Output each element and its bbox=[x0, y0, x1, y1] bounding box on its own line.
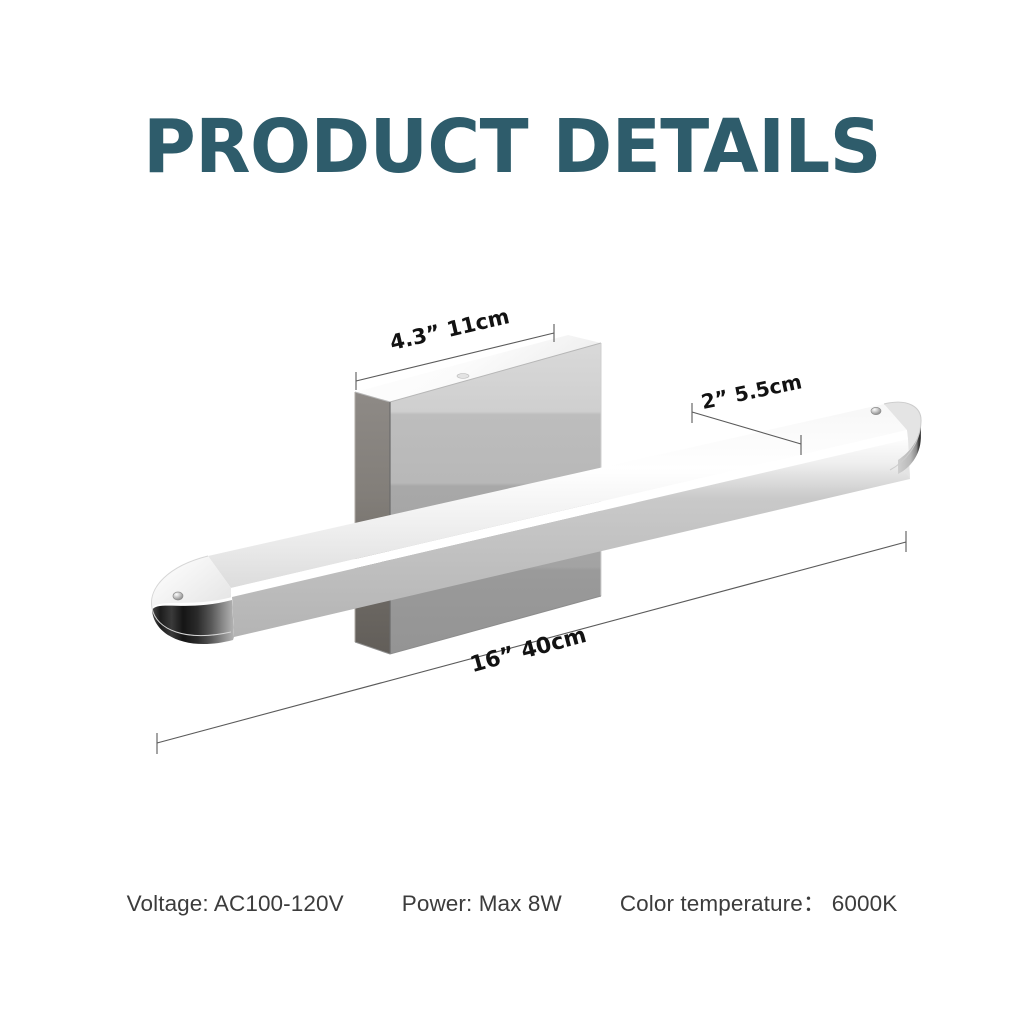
spec-power: Power: Max 8W bbox=[402, 891, 562, 917]
end-cap-screw-left-icon bbox=[173, 592, 183, 600]
spec-color-temperature: Color temperature： 6000K bbox=[620, 886, 898, 918]
product-illustration bbox=[0, 0, 1024, 1024]
mounting-block-screw-icon bbox=[457, 374, 469, 379]
end-cap-screw-right-icon bbox=[871, 407, 881, 414]
product-details-page: PRODUCT DETAILS bbox=[0, 0, 1024, 1024]
spec-voltage: Voltage: AC100-120V bbox=[127, 891, 344, 917]
light-bar-left-cap-band bbox=[152, 600, 234, 644]
spec-row: Voltage: AC100-120V Power: Max 8W Color … bbox=[0, 886, 1024, 918]
product-svg bbox=[0, 0, 1024, 1024]
